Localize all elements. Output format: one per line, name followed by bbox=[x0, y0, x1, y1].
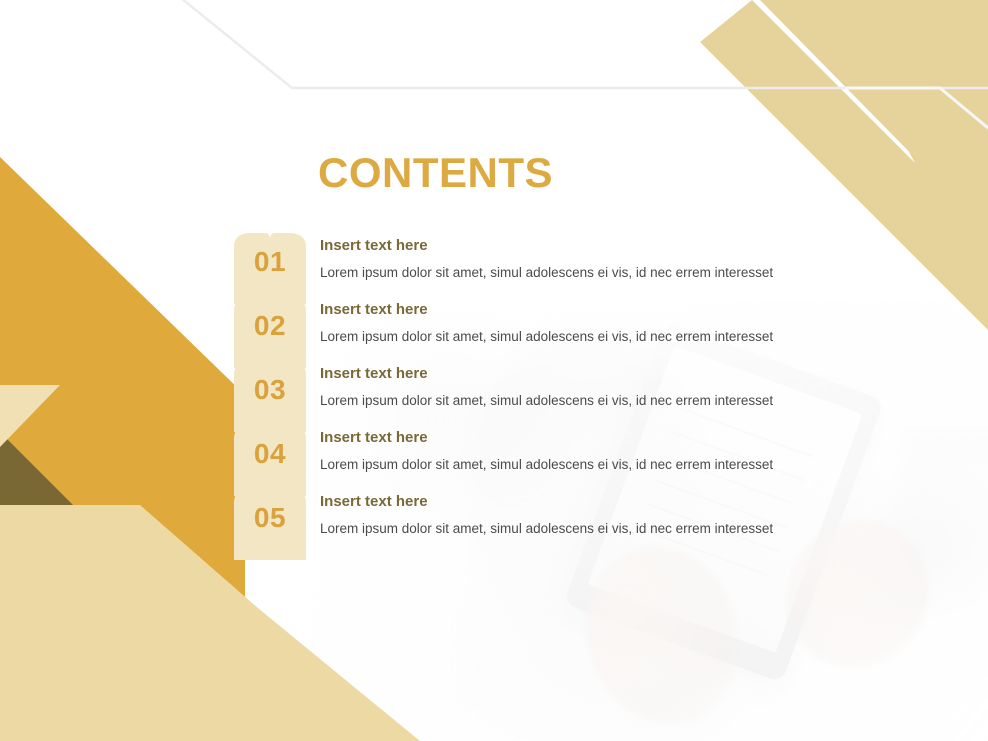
shape-bottom-left-tan-extend bbox=[0, 540, 420, 741]
list-item-number: 02 bbox=[232, 312, 308, 340]
list-item-description: Lorem ipsum dolor sit amet, simul adoles… bbox=[320, 521, 920, 537]
list-item-text: Insert text here Lorem ipsum dolor sit a… bbox=[320, 238, 920, 281]
shape-left-gold bbox=[0, 157, 245, 640]
shape-top-right-band bbox=[752, 0, 988, 246]
list-item[interactable]: 05 Insert text here Lorem ipsum dolor si… bbox=[232, 488, 932, 552]
list-item-description: Lorem ipsum dolor sit amet, simul adoles… bbox=[320, 393, 920, 409]
list-item-number: 05 bbox=[232, 504, 308, 532]
contents-slide: CONTENTS 01 Insert text here Lorem ipsum… bbox=[0, 0, 988, 741]
list-item-number: 01 bbox=[232, 248, 308, 276]
list-item-title: Insert text here bbox=[320, 238, 920, 255]
list-item-title: Insert text here bbox=[320, 430, 920, 447]
list-item[interactable]: 01 Insert text here Lorem ipsum dolor si… bbox=[232, 232, 932, 296]
hairline-top-left bbox=[176, 0, 988, 88]
list-item-text: Insert text here Lorem ipsum dolor sit a… bbox=[320, 302, 920, 345]
hairline-top-right bbox=[845, 88, 988, 128]
list-item-text: Insert text here Lorem ipsum dolor sit a… bbox=[320, 366, 920, 409]
list-item-text: Insert text here Lorem ipsum dolor sit a… bbox=[320, 430, 920, 473]
list-item-description: Lorem ipsum dolor sit amet, simul adoles… bbox=[320, 329, 920, 345]
shape-left-olive-block bbox=[0, 432, 188, 620]
list-item-description: Lorem ipsum dolor sit amet, simul adoles… bbox=[320, 457, 920, 473]
shape-left-olive bbox=[0, 432, 185, 620]
list-item-description: Lorem ipsum dolor sit amet, simul adoles… bbox=[320, 265, 920, 281]
shape-left-cream-sliver bbox=[0, 385, 60, 447]
list-item[interactable]: 02 Insert text here Lorem ipsum dolor si… bbox=[232, 296, 932, 360]
list-item-number: 03 bbox=[232, 376, 308, 404]
list-item[interactable]: 04 Insert text here Lorem ipsum dolor si… bbox=[232, 424, 932, 488]
list-item-number: 04 bbox=[232, 440, 308, 468]
shape-top-right-band-main bbox=[748, 0, 988, 232]
list-item-title: Insert text here bbox=[320, 366, 920, 383]
list-item[interactable]: 03 Insert text here Lorem ipsum dolor si… bbox=[232, 360, 932, 424]
list-item-title: Insert text here bbox=[320, 494, 920, 511]
contents-list: 01 Insert text here Lorem ipsum dolor si… bbox=[232, 232, 932, 552]
photo-hand-left bbox=[564, 527, 762, 741]
list-item-text: Insert text here Lorem ipsum dolor sit a… bbox=[320, 494, 920, 537]
page-title: CONTENTS bbox=[318, 152, 553, 194]
list-item-title: Insert text here bbox=[320, 302, 920, 319]
